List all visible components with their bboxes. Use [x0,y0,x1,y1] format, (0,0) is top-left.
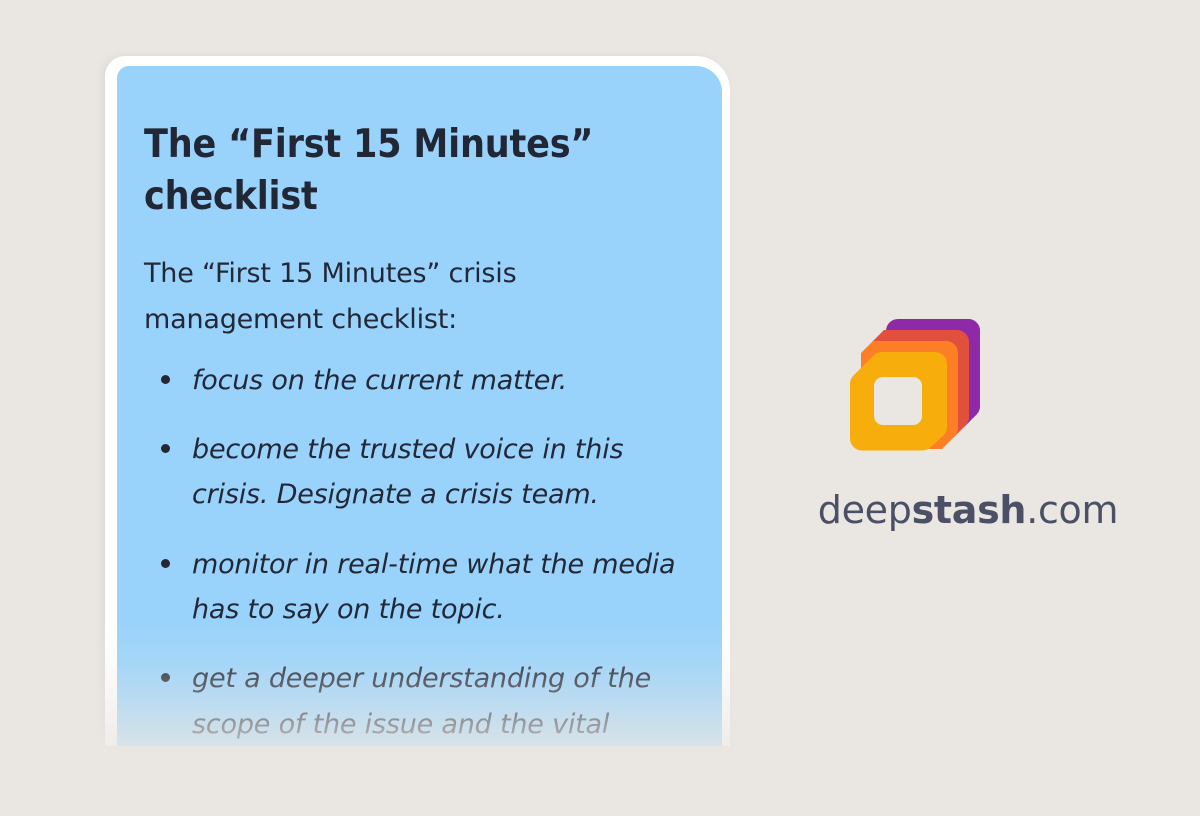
list-item-label: focus on the current matter. [192,365,567,396]
logo-inner-square [874,377,922,425]
list-item-label: monitor in real-time what the media has … [192,549,675,625]
bullet-dot-icon [161,444,170,453]
list-item: get a deeper understanding of the scope … [117,656,722,746]
card-title: The “First 15 Minutes” checklist [117,66,722,223]
insight-card[interactable]: The “First 15 Minutes” checklist The “Fi… [105,56,730,756]
wordmark-stash: stash [912,488,1027,532]
wordmark-com: .com [1026,488,1118,532]
list-item-label: get a deeper understanding of the scope … [192,663,651,739]
card-intro-text: The “First 15 Minutes” crisis management… [117,223,722,344]
deepstash-logo-icon [848,310,988,460]
checklist: focus on the current matter. become the … [117,358,722,746]
brand-block: deepstash.com [808,310,1128,550]
list-item: monitor in real-time what the media has … [117,542,722,633]
list-item-label: become the trusted voice in this crisis.… [192,434,623,510]
screenshot-canvas: The “First 15 Minutes” checklist The “Fi… [0,0,1200,800]
list-item: focus on the current matter. [117,358,722,403]
list-item: become the trusted voice in this crisis.… [117,427,722,518]
bullet-dot-icon [161,375,170,384]
card-blue-panel: The “First 15 Minutes” checklist The “Fi… [117,66,722,746]
card-content: The “First 15 Minutes” checklist The “Fi… [117,66,722,746]
bullet-dot-icon [161,673,170,682]
wordmark-deep: deep [818,488,912,532]
deepstash-wordmark[interactable]: deepstash.com [808,488,1128,532]
bullet-dot-icon [161,559,170,568]
